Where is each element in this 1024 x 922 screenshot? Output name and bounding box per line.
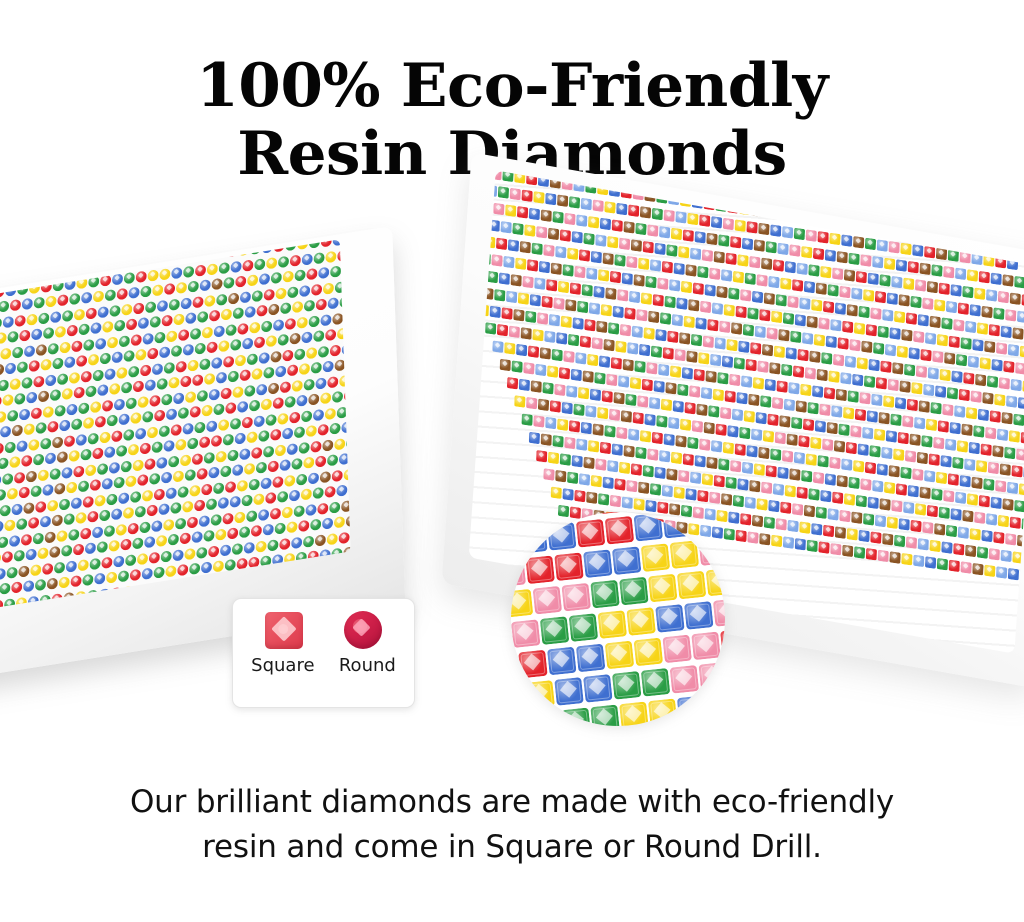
bead (162, 315, 173, 327)
bead (662, 485, 673, 498)
bead (821, 352, 832, 365)
bead (991, 273, 1002, 286)
bead (705, 284, 716, 297)
zoom-bead (511, 512, 512, 526)
bead (640, 206, 651, 219)
bead (885, 344, 896, 357)
bead (808, 488, 819, 501)
bead (634, 274, 645, 287)
bead (10, 378, 21, 390)
bead (709, 491, 720, 504)
bead (511, 360, 522, 373)
bead (235, 432, 246, 444)
bead (212, 278, 223, 290)
bead (26, 313, 37, 325)
bead (72, 261, 83, 273)
bead (724, 304, 735, 317)
bead (0, 582, 10, 594)
bead (214, 325, 225, 337)
bead (95, 494, 106, 506)
bead (930, 402, 941, 415)
bead (28, 438, 39, 450)
bead (724, 528, 735, 541)
bead (847, 304, 858, 317)
bead (536, 226, 547, 239)
bead (637, 395, 648, 408)
bead (953, 319, 964, 332)
bead (74, 386, 85, 398)
bead (564, 213, 575, 226)
bead (311, 283, 322, 295)
bead (756, 498, 767, 511)
bead (254, 336, 265, 348)
bead (190, 406, 201, 418)
bead (651, 345, 662, 358)
bead (36, 265, 47, 277)
bead (898, 432, 909, 445)
bead (301, 331, 312, 343)
bead (159, 346, 170, 358)
bead (563, 350, 574, 363)
bead (38, 312, 49, 324)
bead (806, 229, 817, 242)
bead (533, 191, 544, 204)
zoom-bead (720, 512, 725, 532)
bead (510, 188, 521, 201)
bead (204, 373, 215, 385)
bead (188, 280, 199, 292)
bead (685, 488, 696, 501)
bead (835, 302, 846, 315)
bead (509, 325, 520, 338)
bead (643, 465, 654, 478)
bead (52, 436, 63, 448)
bead (560, 229, 571, 242)
bead (838, 337, 849, 350)
bead (213, 482, 224, 494)
bead (90, 322, 101, 334)
bead (773, 259, 784, 272)
bead (772, 397, 783, 410)
bead (45, 374, 56, 386)
round-drill-tray (0, 268, 402, 648)
bead (571, 369, 582, 382)
bead (116, 445, 127, 457)
bead (540, 347, 551, 360)
bead (777, 380, 788, 393)
bead (919, 487, 930, 500)
bead (256, 462, 267, 474)
bead (302, 253, 313, 265)
bead (178, 328, 189, 340)
bead (125, 554, 136, 566)
bead (900, 467, 911, 480)
bead (325, 329, 336, 341)
bead (289, 489, 300, 501)
bead (142, 489, 153, 501)
bead (114, 476, 125, 488)
zoom-bead (634, 638, 664, 667)
bead (742, 238, 753, 251)
bead (193, 296, 204, 308)
bead (543, 468, 554, 481)
bead (22, 376, 33, 388)
bead (673, 400, 684, 413)
bead (218, 340, 229, 352)
bead (846, 442, 857, 455)
bead (137, 552, 148, 564)
bead (69, 371, 80, 383)
bead (829, 457, 840, 470)
bead (1013, 414, 1024, 427)
bead (950, 284, 961, 297)
bead (518, 292, 529, 305)
bead (114, 319, 125, 331)
bead (702, 473, 713, 486)
bead (26, 548, 37, 560)
bead (910, 520, 921, 533)
bead (194, 499, 205, 511)
bead (585, 405, 596, 418)
bead (836, 389, 847, 402)
bead (301, 488, 312, 500)
zoom-bead (540, 512, 570, 520)
bead (97, 462, 108, 474)
bead (308, 472, 319, 484)
bead (106, 571, 117, 583)
bead (583, 370, 594, 383)
zoom-bead (518, 650, 548, 679)
bead (688, 299, 699, 312)
zoom-bead (540, 616, 570, 645)
bead (261, 398, 272, 410)
bead (837, 251, 848, 264)
bead (765, 379, 776, 392)
bead (945, 438, 956, 451)
bead (223, 434, 234, 446)
bead (828, 284, 839, 297)
bead (947, 387, 958, 400)
bead (634, 498, 645, 511)
bead (164, 361, 175, 373)
bead (299, 441, 310, 453)
bead (533, 415, 544, 428)
bead (868, 272, 879, 285)
bead (266, 335, 277, 347)
bead (797, 349, 808, 362)
bead (745, 272, 756, 285)
bead (805, 367, 816, 380)
bead (1018, 397, 1024, 410)
bead (515, 257, 526, 270)
bead (57, 373, 68, 385)
bead (0, 567, 6, 579)
bead (762, 344, 773, 357)
bead (736, 530, 747, 543)
bead (278, 255, 289, 267)
bead (960, 337, 971, 350)
bead (934, 299, 945, 312)
bead (785, 485, 796, 498)
bead (329, 501, 340, 513)
bead (843, 407, 854, 420)
bead (154, 488, 165, 500)
bead (546, 279, 557, 292)
bead (751, 428, 762, 441)
bead (912, 244, 923, 257)
bead (684, 316, 695, 329)
bead (256, 540, 267, 552)
bead (848, 477, 859, 490)
bead (183, 265, 194, 277)
bead (780, 277, 791, 290)
bead (733, 495, 744, 508)
bead (40, 437, 51, 449)
bead (11, 581, 22, 593)
bead (899, 294, 910, 307)
bead (60, 341, 71, 353)
bead (105, 368, 116, 380)
bead (197, 389, 208, 401)
bead (556, 332, 567, 345)
bead (794, 452, 805, 465)
bead (787, 520, 798, 533)
bead (176, 282, 187, 294)
bead (984, 565, 995, 578)
bead (568, 334, 579, 347)
bead (10, 299, 21, 311)
bead (0, 520, 4, 532)
bead (697, 490, 708, 503)
bead (0, 364, 4, 376)
bead (94, 573, 105, 585)
bead (940, 369, 951, 382)
bead (970, 528, 981, 541)
bead (320, 314, 331, 326)
bead (879, 498, 890, 511)
bead (322, 439, 333, 451)
zoom-bead (547, 647, 577, 676)
bead (231, 260, 242, 272)
bead (83, 338, 94, 350)
bead (285, 317, 296, 329)
bead (164, 440, 175, 452)
bead (4, 519, 15, 531)
bead (875, 291, 886, 304)
bead (552, 435, 563, 448)
zoom-bead (554, 677, 584, 706)
bead (98, 306, 109, 318)
bead (548, 452, 559, 465)
bead (683, 229, 694, 242)
bead (884, 258, 895, 271)
bead (810, 437, 821, 450)
bead (83, 495, 94, 507)
bead (320, 392, 331, 404)
bead (683, 453, 694, 466)
bead (986, 289, 997, 302)
bead (145, 301, 156, 313)
bead (140, 364, 151, 376)
bead (882, 309, 893, 322)
bead (777, 243, 788, 256)
bead (610, 271, 621, 284)
bead (36, 343, 47, 355)
bead (50, 467, 61, 479)
bead (156, 456, 167, 468)
bead (662, 261, 673, 274)
bead (728, 511, 739, 524)
bead (68, 528, 79, 540)
bead (166, 330, 177, 342)
bead (128, 365, 139, 377)
bead (617, 289, 628, 302)
bead (107, 257, 118, 269)
bead (555, 470, 566, 483)
bead (494, 289, 505, 302)
bead (93, 290, 104, 302)
bead (264, 288, 275, 300)
legend-label-row: Square Round (233, 649, 414, 676)
bead (292, 379, 303, 391)
bead (202, 326, 213, 338)
bead (306, 503, 317, 515)
bead (81, 449, 92, 461)
bead (586, 267, 597, 280)
bead (927, 281, 938, 294)
bead (271, 272, 282, 284)
bead (503, 256, 514, 269)
bead (43, 405, 54, 417)
bead (498, 186, 509, 199)
bead (199, 436, 210, 448)
bead (792, 279, 803, 292)
bead (151, 520, 162, 532)
bead (813, 472, 824, 485)
drill-type-legend-card: Square Round (232, 598, 415, 708)
caption-line-2: resin and come in Square or Round Drill. (0, 825, 1024, 870)
bead (567, 248, 578, 261)
bead (1006, 395, 1017, 408)
zoom-bead (590, 580, 620, 609)
bead (315, 377, 326, 389)
bead (596, 321, 607, 334)
bead (109, 540, 120, 552)
bead (601, 304, 612, 317)
bead (776, 518, 787, 531)
bead (746, 359, 757, 372)
zoom-bead (677, 571, 707, 600)
bead (659, 226, 670, 239)
bead (752, 291, 763, 304)
bead (996, 342, 1007, 355)
bead (16, 518, 27, 530)
bead (646, 362, 657, 375)
bead (203, 530, 214, 542)
bead (280, 459, 291, 471)
bead (37, 547, 48, 559)
bead (698, 352, 709, 365)
bead (583, 233, 594, 246)
bead (313, 487, 324, 499)
bead (818, 317, 829, 330)
bead (66, 481, 77, 493)
bead (239, 448, 250, 460)
bead (276, 287, 287, 299)
bead (801, 470, 812, 483)
bead (64, 513, 75, 525)
bead (725, 390, 736, 403)
bead (941, 317, 952, 330)
bead (569, 196, 580, 209)
bead (954, 405, 965, 418)
bead (73, 543, 84, 555)
bead (292, 301, 303, 313)
bead (261, 320, 272, 332)
bead (849, 339, 860, 352)
bead (285, 396, 296, 408)
bead (913, 331, 924, 344)
bead (676, 297, 687, 310)
bead (997, 428, 1008, 441)
bead (116, 523, 127, 535)
bead (971, 477, 982, 490)
bead (825, 249, 836, 262)
bead (607, 460, 618, 473)
bead (770, 448, 781, 461)
bead (906, 536, 917, 549)
bead (797, 487, 808, 500)
bead (120, 538, 131, 550)
bead (287, 364, 298, 376)
headline-line-1: 100% Eco-Friendly (0, 52, 1024, 120)
bead (588, 216, 599, 229)
bead (149, 551, 160, 563)
bead (777, 467, 788, 480)
bead (55, 326, 66, 338)
bead (672, 314, 683, 327)
bead (735, 443, 746, 456)
bead (295, 269, 306, 281)
bead (888, 379, 899, 392)
bead (50, 311, 61, 323)
bead (817, 231, 828, 244)
bead (761, 482, 772, 495)
bead (282, 427, 293, 439)
bead (81, 370, 92, 382)
bead (85, 385, 96, 397)
bead (580, 335, 591, 348)
bead (228, 370, 239, 382)
bead (723, 218, 734, 231)
bead (532, 329, 543, 342)
bead (232, 542, 243, 554)
bead (316, 298, 327, 310)
bead (754, 463, 765, 476)
zoom-bead (641, 668, 671, 697)
bead (545, 417, 556, 430)
bead (962, 286, 973, 299)
bead (783, 312, 794, 325)
bead (38, 469, 49, 481)
bead (30, 564, 41, 576)
bead (911, 382, 922, 395)
bead (84, 260, 95, 272)
bead (166, 487, 177, 499)
bead (237, 401, 248, 413)
bead (306, 346, 317, 358)
zoom-bead (597, 610, 627, 639)
